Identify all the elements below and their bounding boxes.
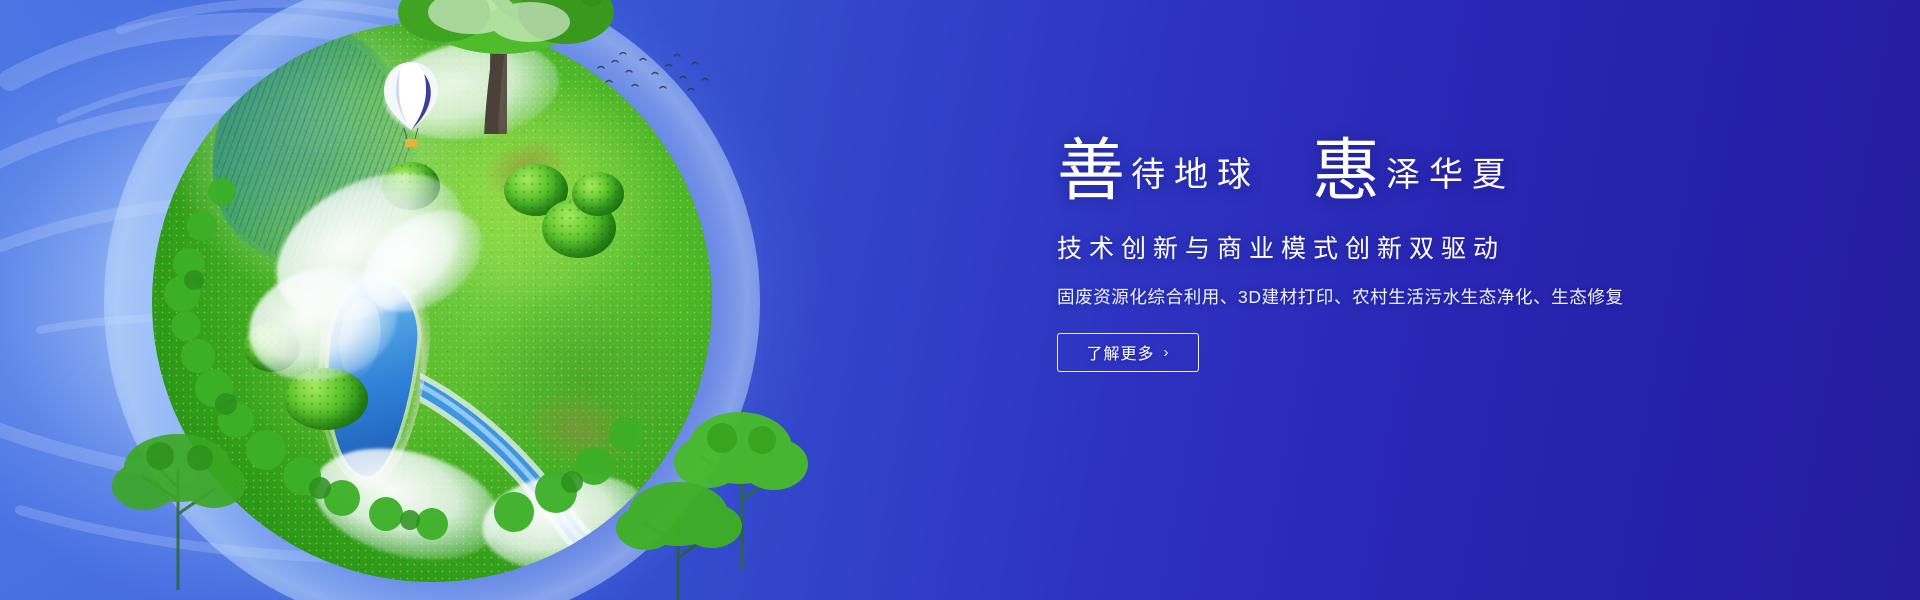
hero-tagline: 固废资源化综合利用、3D建材打印、农村生活污水生态净化、生态修复 (1057, 284, 1757, 309)
hero-headline: 善 待地球 惠 泽华夏 (1057, 140, 1757, 203)
chevron-right-icon: › (1164, 344, 1170, 361)
headline-part2-large: 惠 (1312, 140, 1380, 203)
side-tree-icon (582, 462, 772, 600)
learn-more-label: 了解更多 (1086, 340, 1154, 364)
hero-subtitle: 技术创新与商业模式创新双驱动 (1057, 229, 1757, 265)
hot-air-balloon-icon (380, 60, 442, 156)
hero-banner: 善 待地球 惠 泽华夏 技术创新与商业模式创新双驱动 固废资源化综合利用、3D建… (0, 0, 1920, 600)
hero-content: 善 待地球 惠 泽华夏 技术创新与商业模式创新双驱动 固废资源化综合利用、3D建… (1057, 140, 1757, 372)
green-planet-artwork (152, 22, 712, 582)
learn-more-button[interactable]: 了解更多 › (1057, 333, 1199, 372)
headline-part2-small: 泽华夏 (1386, 159, 1515, 203)
headline-part1-large: 善 (1057, 140, 1125, 203)
side-tree-icon (86, 406, 276, 596)
bird-flock-icon (592, 52, 712, 96)
headline-part1-small: 待地球 (1131, 159, 1260, 203)
